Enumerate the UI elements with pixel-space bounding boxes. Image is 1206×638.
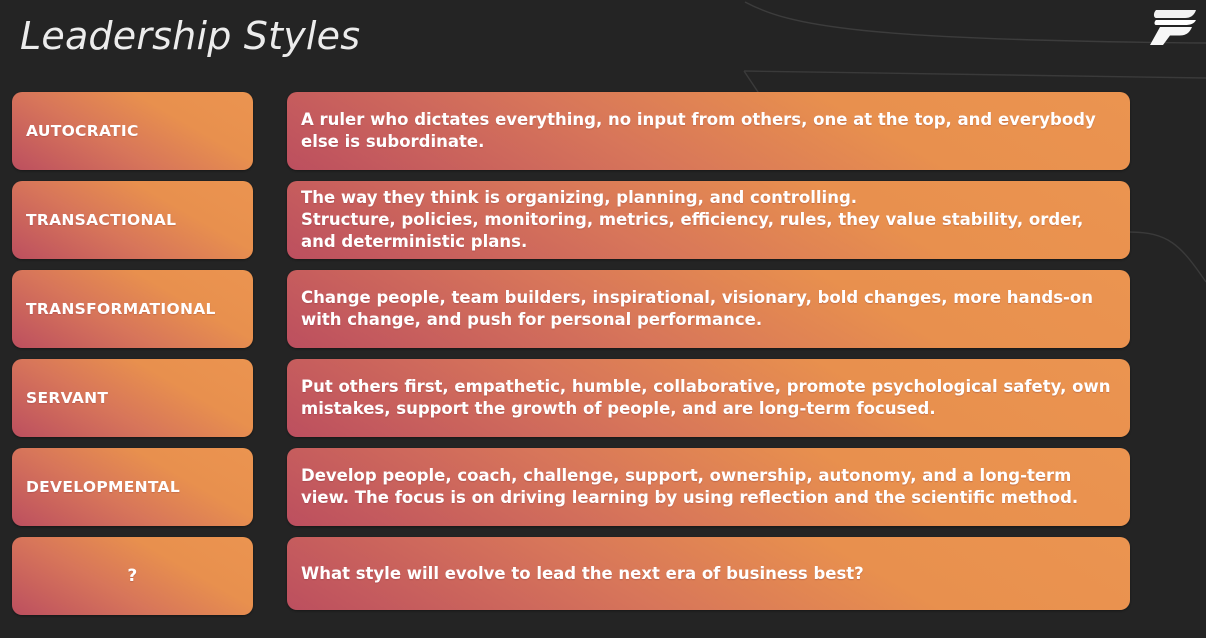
style-description-card-developmental[interactable]: Develop people, coach, challenge, suppor… (287, 448, 1130, 526)
table-row: TRANSACTIONAL The way they think is orga… (0, 181, 1206, 259)
brand-f-logo-icon (1140, 4, 1198, 48)
style-label-card-transactional[interactable]: TRANSACTIONAL (12, 181, 253, 259)
leadership-style-rows: AUTOCRATIC A ruler who dictates everythi… (0, 92, 1206, 626)
style-description-card-unknown[interactable]: What style will evolve to lead the next … (287, 537, 1130, 610)
style-description-card-servant[interactable]: Put others first, empathetic, humble, co… (287, 359, 1130, 437)
style-description-text: A ruler who dictates everything, no inpu… (287, 109, 1130, 153)
table-row: ? What style will evolve to lead the nex… (0, 537, 1206, 615)
style-description-text: What style will evolve to lead the next … (287, 563, 878, 585)
style-label-card-unknown[interactable]: ? (12, 537, 253, 615)
style-label-text: AUTOCRATIC (12, 122, 153, 140)
page-title: Leadership Styles (20, 13, 360, 59)
table-row: DEVELOPMENTAL Develop people, coach, cha… (0, 448, 1206, 526)
table-row: SERVANT Put others first, empathetic, hu… (0, 359, 1206, 437)
table-row: AUTOCRATIC A ruler who dictates everythi… (0, 92, 1206, 170)
style-description-card-transactional[interactable]: The way they think is organizing, planni… (287, 181, 1130, 259)
style-label-card-servant[interactable]: SERVANT (12, 359, 253, 437)
style-description-card-autocratic[interactable]: A ruler who dictates everything, no inpu… (287, 92, 1130, 170)
style-label-text: TRANSACTIONAL (12, 211, 190, 229)
style-label-card-developmental[interactable]: DEVELOPMENTAL (12, 448, 253, 526)
style-description-text: The way they think is organizing, planni… (287, 187, 1130, 253)
style-description-text: Change people, team builders, inspiratio… (287, 287, 1130, 331)
style-description-card-transformational[interactable]: Change people, team builders, inspiratio… (287, 270, 1130, 348)
slide-canvas: Leadership Styles AUTOCRATIC A ruler who… (0, 0, 1206, 638)
style-description-text: Put others first, empathetic, humble, co… (287, 376, 1130, 420)
style-label-card-transformational[interactable]: TRANSFORMATIONAL (12, 270, 253, 348)
style-label-text: ? (12, 566, 253, 586)
slide-header: Leadership Styles (0, 0, 1206, 84)
style-description-text: Develop people, coach, challenge, suppor… (287, 465, 1130, 509)
style-label-text: SERVANT (12, 389, 122, 407)
style-label-text: DEVELOPMENTAL (12, 478, 194, 496)
style-label-card-autocratic[interactable]: AUTOCRATIC (12, 92, 253, 170)
table-row: TRANSFORMATIONAL Change people, team bui… (0, 270, 1206, 348)
style-label-text: TRANSFORMATIONAL (12, 300, 230, 318)
